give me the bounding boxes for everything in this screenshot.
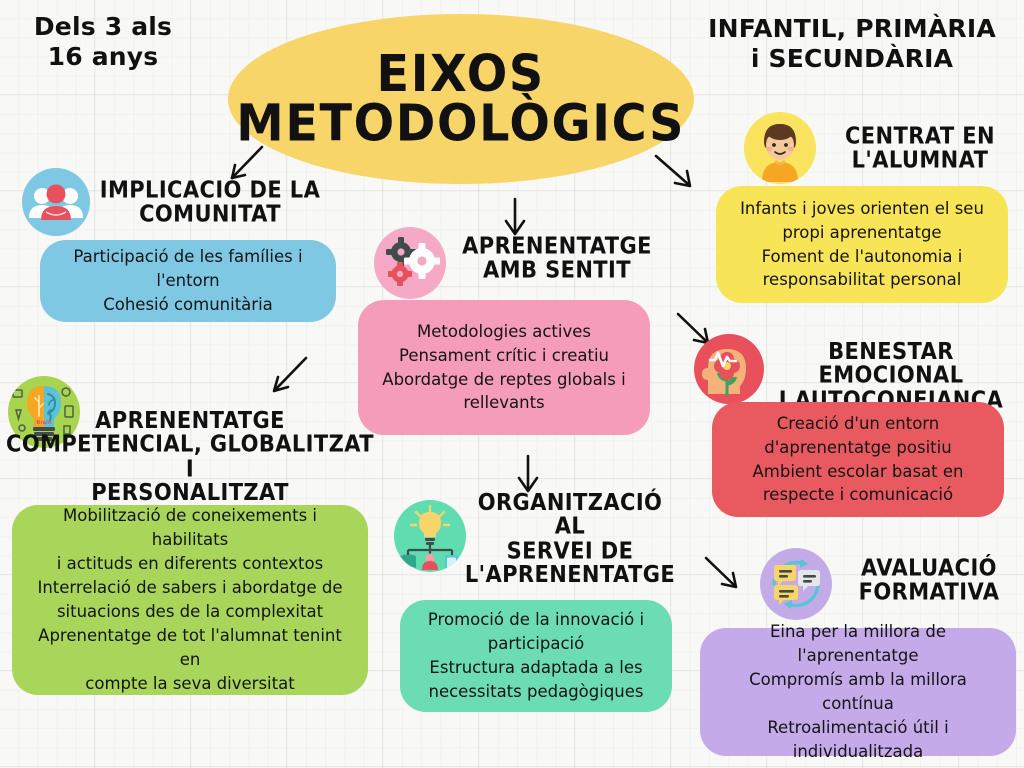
arrow-to-competencial bbox=[262, 352, 318, 400]
student-child-icon bbox=[744, 112, 816, 184]
card-competencial: Mobilització de coneixements i habilitat… bbox=[12, 505, 368, 695]
heading-benestar: BENESTAR EMOCIONAL I AUTOCONFIANÇA bbox=[760, 339, 1022, 411]
caption-age-range: Dels 3 als 16 anys bbox=[18, 12, 188, 71]
heading-competencial: APRENENTATGE COMPETENCIAL, GLOBALITZAT I… bbox=[6, 408, 374, 504]
card-alumnat: Infants i joves orienten el seu propi ap… bbox=[716, 186, 1008, 303]
caption-stages: INFANTIL, PRIMÀRIA i SECUNDÀRIA bbox=[702, 14, 1002, 73]
head-flower-heartbeat-icon bbox=[694, 334, 764, 404]
card-sentit: Metodologies actives Pensament crític i … bbox=[358, 300, 650, 435]
heading-avaluacio: AVALUACIÓ FORMATIVA bbox=[836, 556, 1022, 604]
arrow-to-alumnat bbox=[650, 150, 708, 196]
heading-sentit: APRENENTATGE AMB SENTIT bbox=[452, 234, 662, 282]
card-organitzacio: Promoció de la innovació i participació … bbox=[400, 600, 672, 712]
feedback-cycle-icon bbox=[760, 548, 832, 620]
arrow-to-avaluacio bbox=[700, 552, 754, 598]
heading-organitzacio: ORGANITZACIÓ AL SERVEI DE L'APRENENTATGE bbox=[462, 490, 678, 586]
community-people-icon bbox=[22, 168, 90, 236]
page-title: EIXOS METODOLÒGICS bbox=[237, 50, 686, 149]
heading-community: IMPLICACIÓ DE LA COMUNITAT bbox=[96, 178, 324, 226]
card-avaluacio: Eina per la millora de l'aprenentatge Co… bbox=[700, 628, 1016, 756]
card-benestar: Creació d'un entorn d'aprenentatge posit… bbox=[712, 402, 1004, 517]
lightbulb-orgchart-icon bbox=[394, 500, 466, 572]
card-community: Participació de les famílies i l'entorn … bbox=[40, 240, 336, 322]
gears-icon bbox=[374, 227, 446, 299]
title-ellipse: EIXOS METODOLÒGICS bbox=[228, 14, 694, 184]
heading-alumnat: CENTRAT EN L'ALUMNAT bbox=[820, 124, 1020, 172]
